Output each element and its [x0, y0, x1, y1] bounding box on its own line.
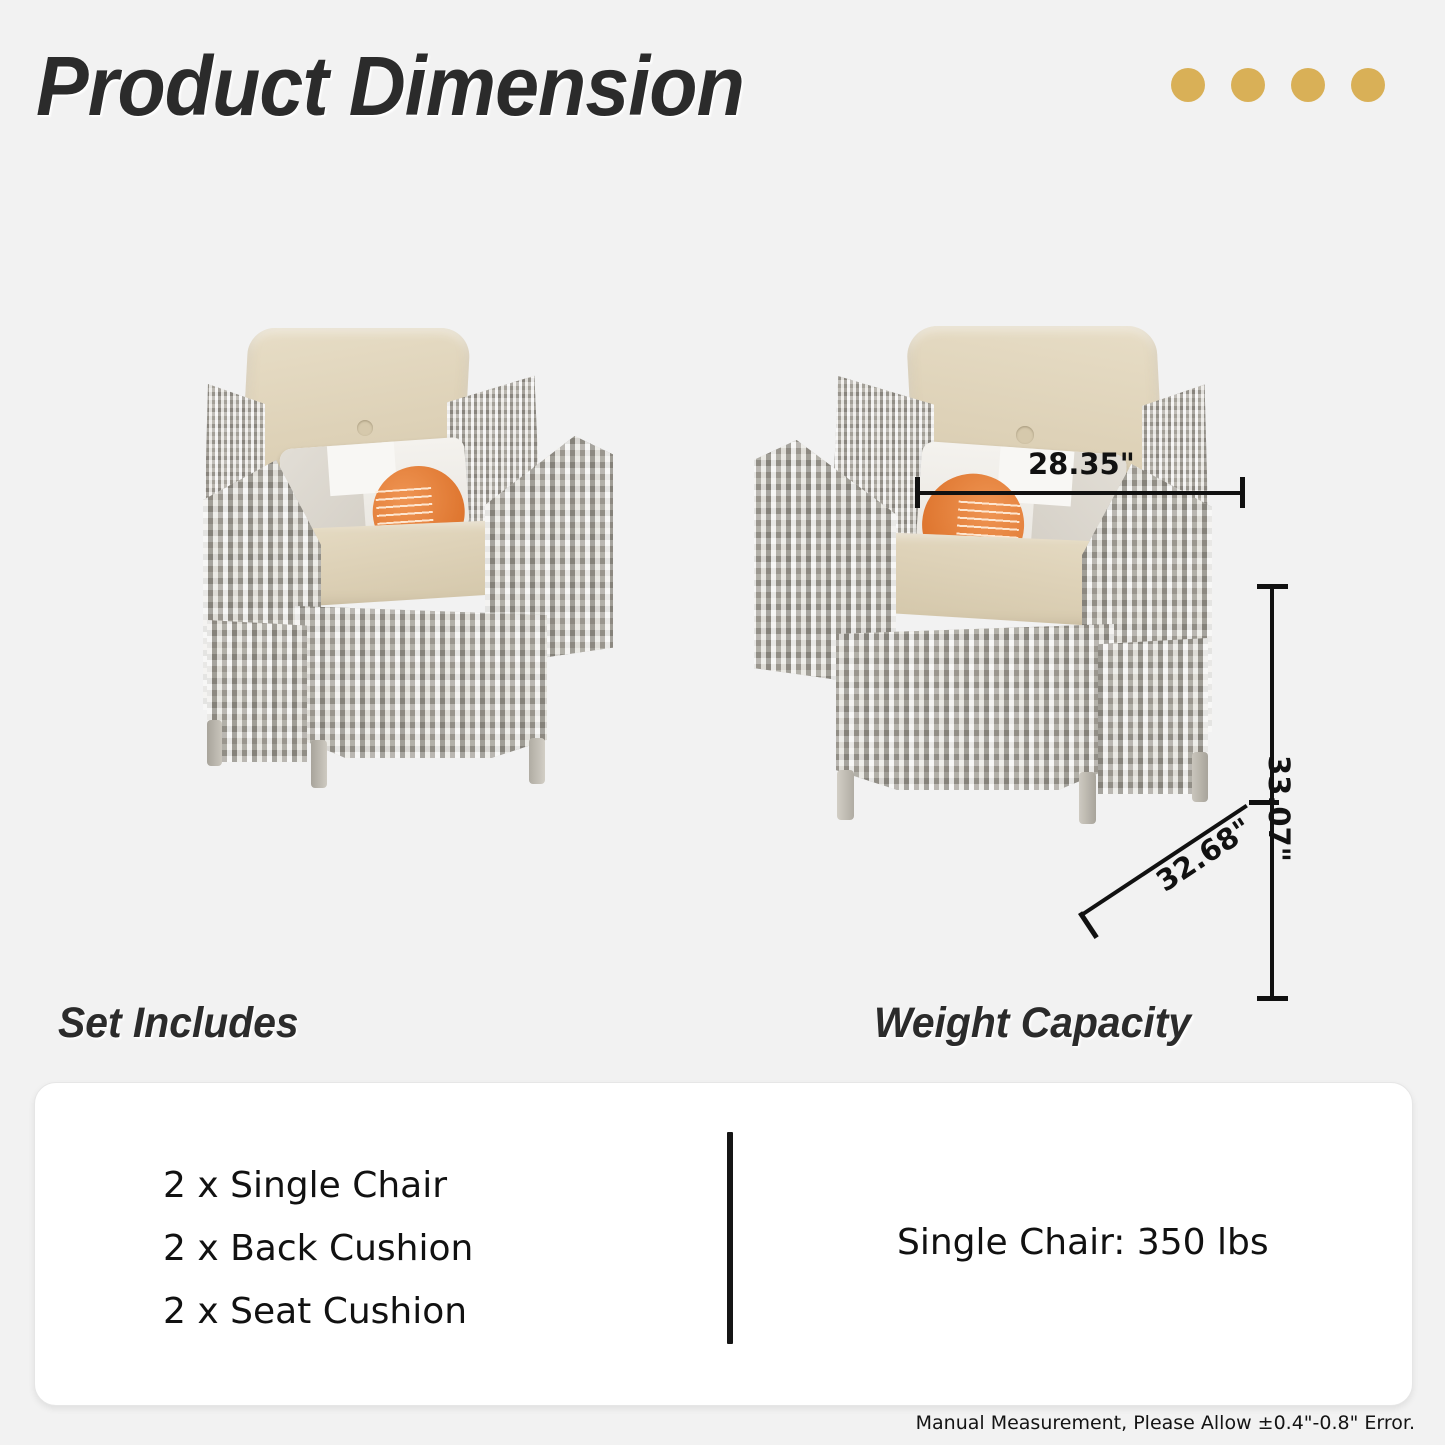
- chair-right-leg-front: [1079, 772, 1096, 824]
- chair-left-leg-back: [207, 720, 222, 766]
- dimension-width-cap-right: [1240, 477, 1245, 508]
- chair-left-side-panel: [207, 620, 307, 762]
- chair-left-base-panel: [295, 606, 547, 758]
- dimension-height-cap-bottom: [1257, 996, 1288, 1001]
- measurement-disclaimer: Manual Measurement, Please Allow ±0.4"-0…: [916, 1412, 1415, 1434]
- chair-right-tuft-button: [1016, 426, 1034, 444]
- list-item: 2 x Seat Cushion: [163, 1291, 467, 1332]
- card-divider: [727, 1132, 733, 1344]
- weight-capacity-heading: Weight Capacity: [874, 1002, 1191, 1045]
- chair-right-leg-right: [837, 770, 854, 820]
- chair-right-leg-back: [1192, 752, 1208, 802]
- chair-left-leg-right: [529, 738, 545, 784]
- dot-1: [1171, 68, 1205, 102]
- chair-left-leg-front: [311, 740, 327, 788]
- list-item: 2 x Back Cushion: [163, 1228, 473, 1269]
- dimension-depth-cap-end: [1249, 800, 1279, 805]
- chair-right: [712, 318, 1232, 838]
- list-item: 2 x Single Chair: [163, 1165, 447, 1206]
- dimension-height-cap-top: [1257, 584, 1288, 589]
- infographic-page: Product Dimension: [0, 0, 1445, 1445]
- dimension-height-label: 33.07": [1262, 755, 1296, 862]
- dot-2: [1231, 68, 1265, 102]
- page-title: Product Dimension: [36, 44, 744, 128]
- dot-4: [1351, 68, 1385, 102]
- chair-left-tuft-button: [357, 420, 373, 436]
- dimension-width-label: 28.35": [1028, 447, 1135, 481]
- chair-right-base-panel: [836, 624, 1114, 790]
- product-image-area: 28.35" 33.07" 32.68": [0, 170, 1445, 970]
- dimension-depth-cap-start: [1078, 911, 1099, 939]
- weight-capacity-value: Single Chair: 350 lbs: [897, 1222, 1269, 1263]
- decorative-dots: [1171, 68, 1385, 102]
- dimension-width-line: [915, 491, 1245, 495]
- dimension-width-cap-left: [915, 477, 920, 508]
- set-includes-heading: Set Includes: [58, 1002, 299, 1045]
- chair-left: [185, 320, 655, 820]
- dot-3: [1291, 68, 1325, 102]
